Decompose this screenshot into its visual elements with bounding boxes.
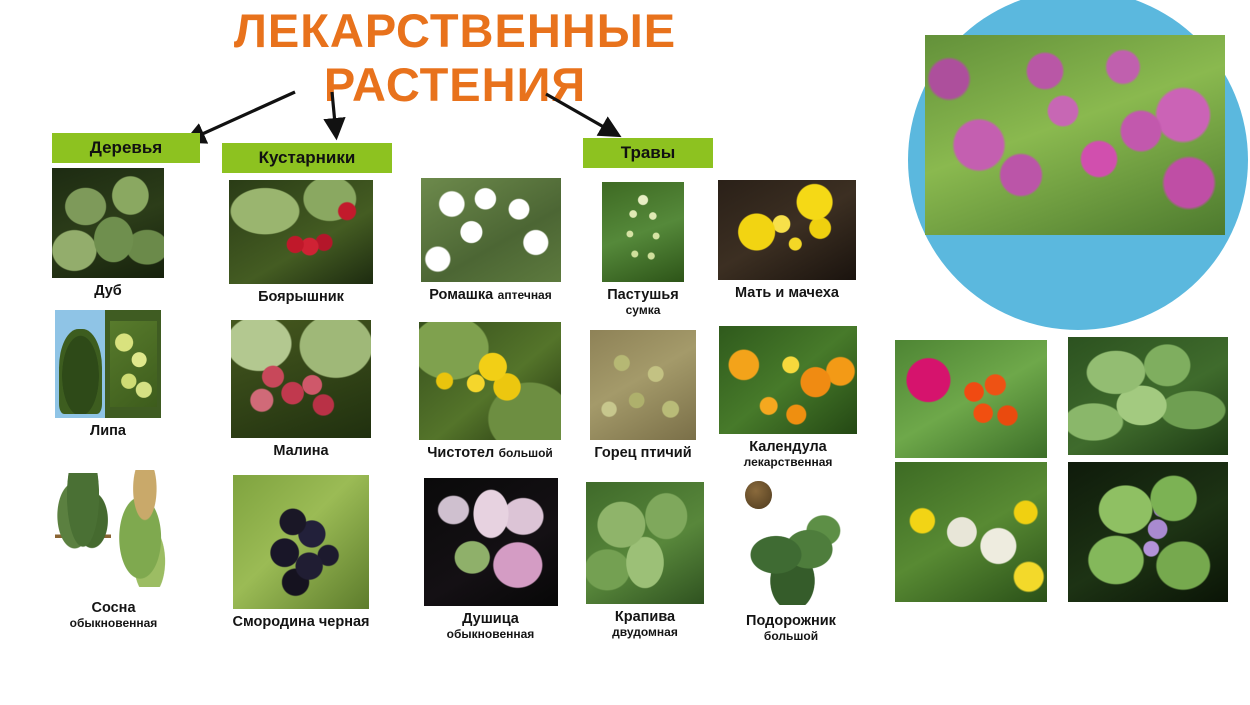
plant-card-coltsfoot[interactable]: Мать и мачеха	[712, 180, 862, 302]
plant-caption-linden: Липа	[33, 422, 183, 440]
plant-name-oregano: Душица	[462, 611, 519, 627]
side-photo-rosehip	[895, 340, 1047, 458]
plant-image-hawthorn	[229, 180, 373, 284]
plant-qualifier-chamomile: аптечная	[498, 288, 552, 302]
plant-caption-shepherd: Пастушья сумка	[578, 286, 708, 317]
plant-name-knotweed: Горец птичий	[594, 445, 691, 461]
plant-caption-oak: Дуб	[33, 282, 183, 300]
plant-image-pine	[44, 465, 184, 595]
slide-canvas: ЛЕКАРСТВЕННЫЕ РАСТЕНИЯ Деревья Кустарник…	[0, 0, 1250, 705]
plant-image-linden	[55, 310, 161, 418]
plant-name-shepherd: Пастушья	[607, 287, 679, 303]
plant-caption-oregano: Душица обыкновенная	[403, 610, 578, 641]
plant-caption-knotweed: Горец птичий	[572, 444, 714, 462]
plant-caption-calendula: Календула лекарственная	[712, 438, 864, 469]
plant-caption-coltsfoot: Мать и мачеха	[712, 284, 862, 302]
plant-image-shepherd	[602, 182, 684, 282]
plant-name-currant: Смородина черная	[233, 614, 370, 630]
plant-card-oregano[interactable]: Душица обыкновенная	[403, 478, 578, 641]
category-chip-shrubs[interactable]: Кустарники	[222, 143, 392, 173]
plant-caption-pine: Сосна обыкновенная	[26, 599, 201, 630]
plant-caption-nettle: Крапива двудомная	[580, 608, 710, 639]
plant-qualifier-nettle: двудомная	[580, 626, 710, 639]
plant-caption-hawthorn: Боярышник	[215, 288, 387, 306]
plant-image-knotweed	[590, 330, 696, 440]
plant-card-shepherd[interactable]: Пастушья сумка	[578, 182, 708, 317]
plant-name-hawthorn: Боярышник	[258, 289, 344, 305]
plant-image-calendula	[719, 326, 857, 434]
side-photo-mint	[1068, 462, 1228, 602]
plant-card-chamomile[interactable]: Ромашка аптечная	[403, 178, 578, 304]
plant-card-oak[interactable]: Дуб	[33, 168, 183, 300]
plant-name-linden: Липа	[90, 423, 126, 439]
plant-card-linden[interactable]: Липа	[33, 310, 183, 440]
plant-card-raspberry[interactable]: Малина	[215, 320, 387, 460]
plant-caption-currant: Смородина черная	[211, 613, 391, 631]
plant-name-oak: Дуб	[94, 283, 122, 299]
plant-image-coltsfoot	[718, 180, 856, 280]
plant-qualifier-calendula: лекарственная	[712, 456, 864, 469]
plant-card-hawthorn[interactable]: Боярышник	[215, 180, 387, 306]
plant-name-coltsfoot: Мать и мачеха	[735, 285, 839, 301]
plant-name-nettle: Крапива	[615, 609, 675, 625]
plant-name-raspberry: Малина	[273, 443, 328, 459]
plant-qualifier-oregano: обыкновенная	[403, 628, 578, 641]
plant-name-pine: Сосна	[91, 600, 135, 616]
plant-caption-chamomile: Ромашка аптечная	[403, 286, 578, 304]
clover-hero-photo	[925, 35, 1225, 235]
page-title: ЛЕКАРСТВЕННЫЕ РАСТЕНИЯ	[150, 4, 760, 112]
category-chip-herbs[interactable]: Травы	[583, 138, 713, 168]
plant-image-oregano	[424, 478, 558, 606]
plant-qualifier-plantain: большой	[718, 630, 864, 643]
plant-caption-celandine: Чистотел большой	[400, 444, 580, 462]
plant-image-raspberry	[231, 320, 371, 438]
plant-caption-raspberry: Малина	[215, 442, 387, 460]
plant-card-knotweed[interactable]: Горец птичий	[572, 330, 714, 462]
plant-qualifier-shepherd: сумка	[578, 304, 708, 317]
plant-image-oak	[52, 168, 164, 278]
plant-card-celandine[interactable]: Чистотел большой	[400, 322, 580, 462]
plant-card-currant[interactable]: Смородина черная	[211, 475, 391, 631]
plant-name-calendula: Календула	[749, 439, 826, 455]
plant-card-nettle[interactable]: Крапива двудомная	[580, 482, 710, 639]
plant-qualifier-pine: обыкновенная	[26, 617, 201, 630]
plant-image-nettle	[586, 482, 704, 604]
plant-name-plantain: Подорожник	[746, 613, 836, 629]
plant-card-plantain[interactable]: Подорожник большой	[718, 478, 864, 643]
category-chip-trees[interactable]: Деревья	[52, 133, 200, 163]
plant-card-pine[interactable]: Сосна обыкновенная	[26, 465, 201, 630]
plant-image-plantain	[731, 478, 851, 608]
side-photo-dandelion	[895, 462, 1047, 602]
plant-image-chamomile	[421, 178, 561, 282]
plant-name-chamomile: Ромашка	[429, 287, 493, 303]
plant-card-calendula[interactable]: Календула лекарственная	[712, 326, 864, 469]
plant-caption-plantain: Подорожник большой	[718, 612, 864, 643]
plant-name-celandine: Чистотел	[427, 445, 494, 461]
plant-image-currant	[233, 475, 369, 609]
plant-image-celandine	[419, 322, 561, 440]
side-photo-nettle	[1068, 337, 1228, 455]
plant-qualifier-celandine: большой	[499, 446, 553, 460]
